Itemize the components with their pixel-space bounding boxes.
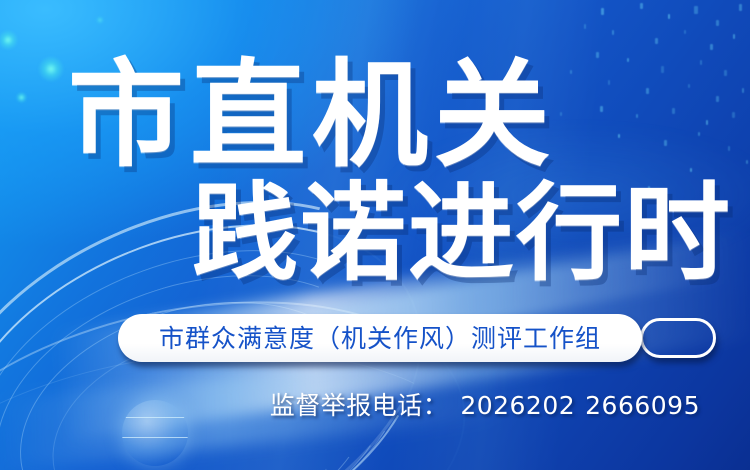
particle-dot: [684, 30, 686, 34]
particle-dot: [700, 60, 702, 65]
subtitle-text: 市群众满意度（机关作风）测评工作组: [159, 326, 601, 351]
particle-dot: [640, 3, 643, 9]
particle-dot: [732, 112, 735, 118]
particle-dot: [560, 112, 562, 116]
subtitle-pill-bar: 市群众满意度（机关作风）测评工作组: [118, 314, 642, 362]
particle-dot: [716, 20, 719, 26]
headline-line-2: 践诺进行时: [192, 178, 732, 288]
particle-dot: [706, 120, 708, 125]
hotline-line: 监督举报电话：20262022666095: [0, 386, 700, 422]
particle-dot: [716, 96, 719, 102]
particle-dot: [742, 88, 744, 93]
particle-dot: [710, 44, 713, 50]
subtitle-row: 市群众满意度（机关作风）测评工作组: [0, 314, 750, 364]
particle-dot: [601, 8, 604, 15]
headline-line-1: 市直机关: [68, 56, 556, 177]
particle-dot: [600, 106, 603, 112]
particle-dot: [661, 66, 664, 73]
particle-dot: [646, 88, 649, 94]
particle-dot: [664, 140, 667, 146]
particle-dot: [724, 70, 727, 76]
glow-dot-icon: [0, 30, 18, 50]
hotline-label: 监督举报电话：: [270, 391, 449, 420]
particle-dot: [746, 160, 748, 164]
particle-dot: [672, 108, 675, 114]
decorative-capsule-outline: [640, 318, 716, 358]
hotline-number-1: 2026202: [460, 391, 575, 420]
poster-banner: 市直机关 践诺进行时 市群众满意度（机关作风）测评工作组 监督举报电话：2026…: [0, 0, 750, 470]
particle-dot: [698, 132, 700, 136]
particle-dot: [608, 80, 610, 85]
particle-dot: [612, 30, 614, 35]
particle-dot: [668, 14, 670, 19]
particle-dot: [733, 34, 735, 39]
particle-dot: [739, 4, 742, 11]
particle-dot: [694, 6, 698, 14]
particle-dot: [655, 38, 658, 44]
particle-dot: [636, 114, 638, 118]
particle-dot: [627, 58, 629, 62]
particle-dot: [688, 84, 690, 88]
glow-dot-icon: [16, 92, 27, 103]
particle-dot: [596, 52, 599, 58]
particle-dot: [570, 70, 572, 74]
particle-dot: [584, 24, 586, 29]
glow-dot-icon: [38, 56, 64, 82]
particle-dot: [728, 146, 730, 151]
hotline-number-2: 2666095: [585, 391, 700, 420]
glow-dot-icon: [96, 16, 104, 24]
particle-dot: [618, 134, 620, 138]
